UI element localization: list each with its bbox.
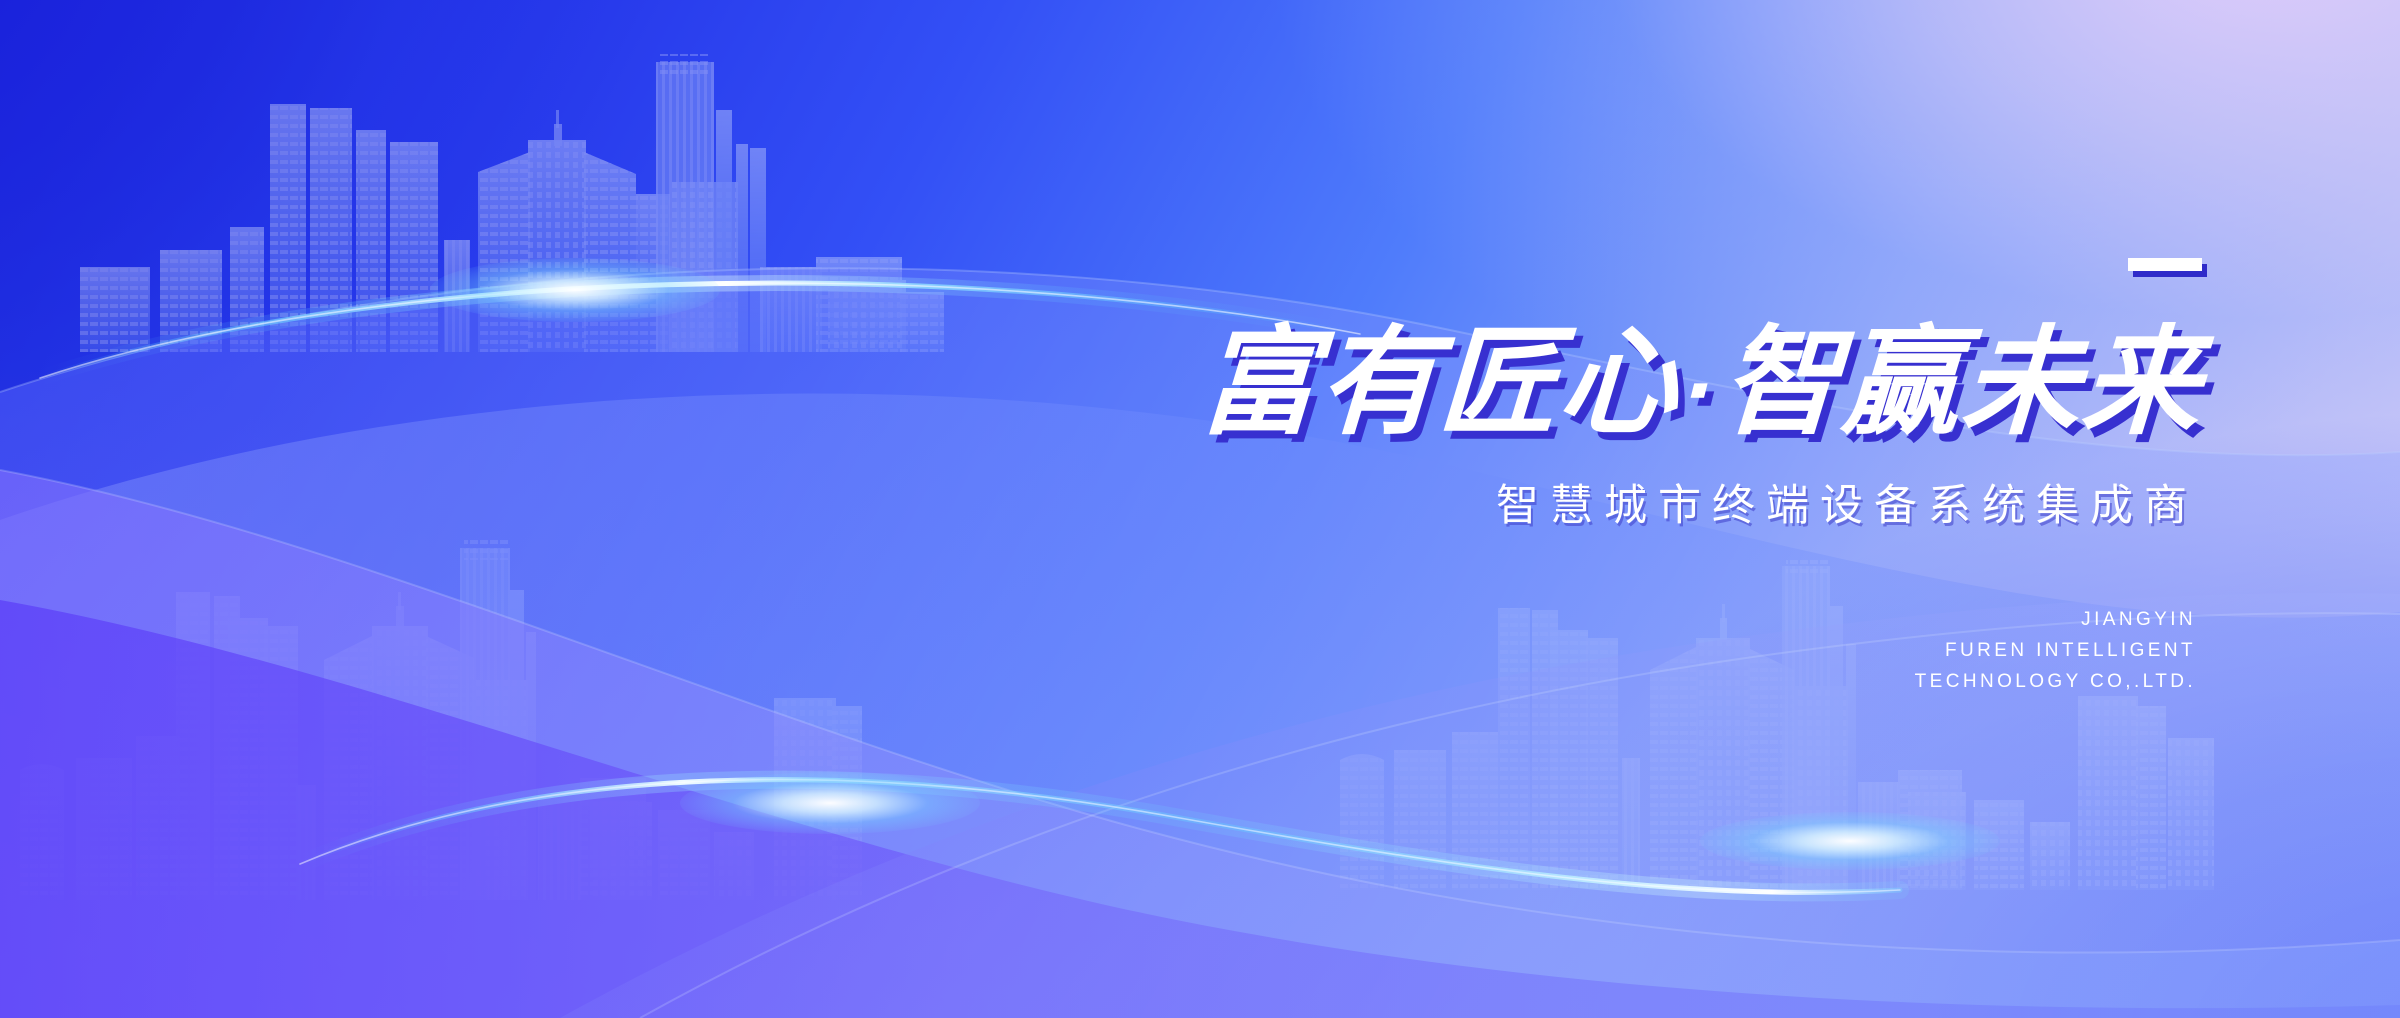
company-name-line-2: FUREN INTELLIGENT (1022, 636, 2196, 667)
company-name-line-3: TECHNOLOGY CO,.LTD. (1022, 667, 2196, 698)
page-title: 富有匠心·智赢未来 (1019, 320, 2206, 445)
company-name-block: JIANGYIN FUREN INTELLIGENT TECHNOLOGY CO… (1022, 605, 2202, 697)
headline-part-1: 富有匠心 (1196, 313, 1683, 451)
banner-text-block: 富有匠心·智赢未来 智慧城市终端设备系统集成商 JIANGYIN FUREN I… (1022, 258, 2202, 697)
banner-canvas: 富有匠心·智赢未来 智慧城市终端设备系统集成商 JIANGYIN FUREN I… (0, 0, 2400, 1018)
headline-part-2: 智赢未来 (1718, 313, 2205, 451)
accent-rule-dash-icon (2128, 258, 2202, 271)
company-name-line-1: JIANGYIN (1022, 605, 2196, 636)
headline-separator-dot: · (1676, 346, 1724, 435)
page-subtitle: 智慧城市终端设备系统集成商 (1022, 471, 2202, 533)
